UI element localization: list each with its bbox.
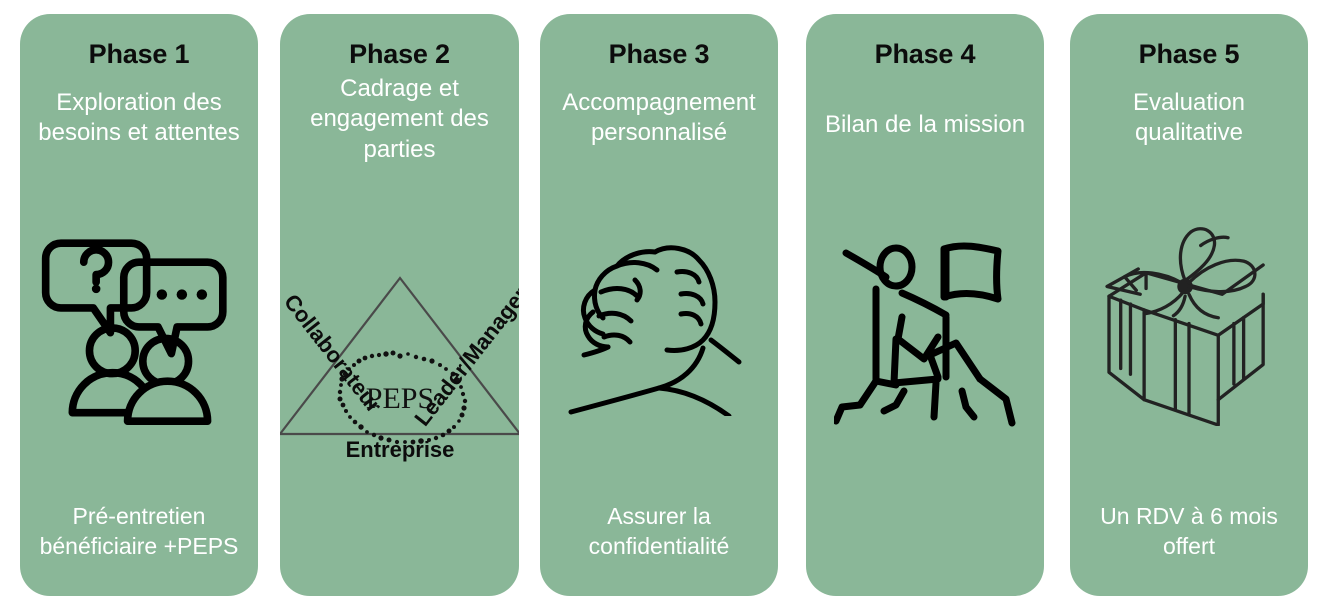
phase-card-1-footer: Pré-entretien bénéficiaire +PEPS — [20, 502, 258, 562]
phase-card-5[interactable]: Phase 5 Evaluation qualitative — [1070, 14, 1308, 596]
phase-card-5-footer: Un RDV à 6 mois offert — [1070, 502, 1308, 562]
phase-card-4-footer — [919, 523, 931, 524]
phase-card-3-icon-area — [540, 149, 778, 502]
speech-bubbles-two-people-icon — [39, 226, 239, 426]
phase-card-3-footer: Assurer la confidentialité — [540, 502, 778, 562]
phase-card-1-icon-area — [20, 149, 258, 502]
phase-card-2-subtitle: Cadrage et engagement des parties — [280, 74, 519, 166]
phase-card-4[interactable]: Phase 4 Bilan de la mission — [806, 14, 1044, 596]
phase-card-5-title: Phase 5 — [1139, 40, 1240, 70]
phase-card-5-subtitle: Evaluation qualitative — [1070, 88, 1308, 149]
triangle-bottom-label: Entreprise — [345, 437, 454, 462]
stakeholder-triangle-icon: PEPS Collaborateur Leader/Manager Entrep… — [280, 256, 519, 471]
phase-card-2-icon-area: PEPS Collaborateur Leader/Manager Entrep… — [280, 166, 519, 561]
phase-card-4-title: Phase 4 — [875, 40, 976, 70]
phase-card-1-subtitle: Exploration des besoins et attentes — [20, 88, 258, 149]
phase-card-5-icon-area — [1070, 149, 1308, 502]
gift-box-icon — [1089, 226, 1289, 426]
phase-card-1-title: Phase 1 — [89, 40, 190, 70]
phase-card-4-icon-area — [806, 140, 1044, 523]
phase-card-2-title: Phase 2 — [349, 40, 450, 70]
phase-card-2[interactable]: Phase 2 Cadrage et engagement des partie… — [280, 14, 519, 596]
phase-cards-board: Phase 1 Exploration des besoins et atten… — [0, 0, 1321, 610]
phase-card-2-footer — [394, 561, 406, 562]
phase-card-1[interactable]: Phase 1 Exploration des besoins et atten… — [20, 14, 258, 596]
climber-summit-flag-icon — [834, 231, 1016, 433]
triangle-left-label: Collaborateur — [280, 289, 387, 417]
phase-card-3-subtitle: Accompagnement personnalisé — [540, 88, 778, 149]
phase-card-3[interactable]: Phase 3 Accompagnement personnalisé — [540, 14, 778, 596]
phase-card-3-title: Phase 3 — [609, 40, 710, 70]
handshake-icon — [559, 236, 759, 416]
phase-card-4-subtitle: Bilan de la mission — [817, 110, 1033, 141]
